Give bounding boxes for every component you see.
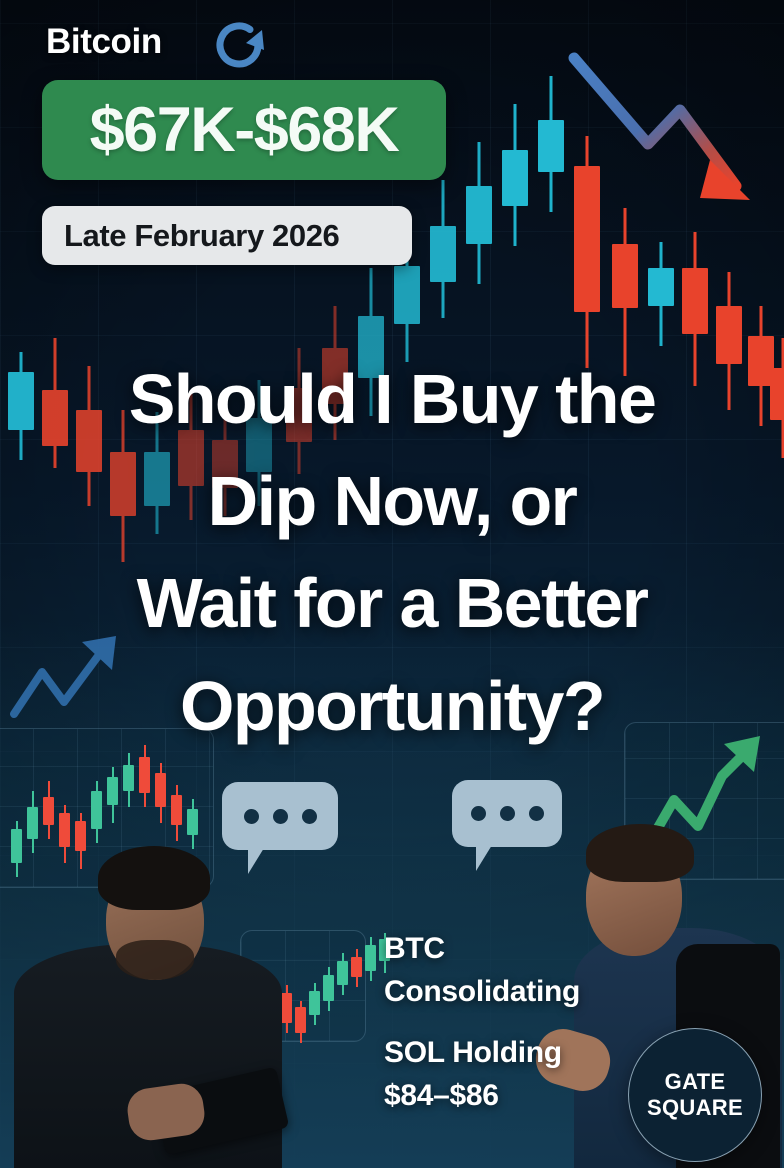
date-chip: Late February 2026: [42, 206, 412, 265]
chart-widget-left-candle-9: [155, 763, 166, 823]
caption-sol-line2: $84–$86: [384, 1075, 562, 1118]
chat-bubble-right[interactable]: [452, 780, 562, 870]
page-title-line-4: Opportunity?: [26, 655, 758, 757]
caption-btc-line1: BTC: [384, 928, 580, 971]
chat-bubble-left[interactable]: [222, 782, 338, 874]
chart-widget-center-candle-8: [365, 937, 376, 981]
candle-13: [466, 142, 492, 284]
trader-with-tablet: [10, 836, 310, 1168]
chat-bubble-tail: [248, 848, 264, 874]
chart-widget-left-candle-5: [91, 781, 102, 843]
page-title-line-3: Wait for a Better: [26, 552, 758, 654]
typing-dot: [273, 809, 288, 824]
gate-square-badge[interactable]: GATE SQUARE: [628, 1028, 762, 1162]
caption-sol-line1: SOL Holding: [384, 1032, 562, 1075]
social-card-root: Bitcoin $67K-$68K Late February 2026 Sho…: [0, 0, 784, 1168]
gate-badge-line2: SQUARE: [647, 1095, 743, 1121]
chart-widget-center-candle-4: [309, 983, 320, 1025]
asset-label: Bitcoin: [46, 22, 162, 62]
gate-badge-line1: GATE: [665, 1069, 726, 1095]
date-chip-text: Late February 2026: [64, 218, 339, 254]
chart-widget-left-candle-2: [43, 781, 54, 839]
typing-dot: [244, 809, 259, 824]
chart-widget-center-candle-7: [351, 949, 362, 987]
chat-bubble-body: [222, 782, 338, 850]
caption-btc-line2: Consolidating: [384, 971, 580, 1014]
page-title: Should I Buy theDip Now, orWait for a Be…: [0, 348, 784, 757]
price-range-text: $67K-$68K: [90, 94, 399, 166]
chart-widget-center-candle-5: [323, 967, 334, 1011]
page-title-line-2: Dip Now, or: [26, 450, 758, 552]
candle-18: [648, 242, 674, 346]
refresh-icon[interactable]: [210, 16, 276, 74]
decline-arrow-icon: [560, 48, 784, 238]
page-title-line-1: Should I Buy the: [26, 348, 758, 450]
chart-widget-left-candle-10: [171, 785, 182, 841]
chart-widget-center-candle-6: [337, 953, 348, 995]
caption-btc: BTC Consolidating: [384, 928, 580, 1013]
candle-12: [430, 180, 456, 318]
typing-dot: [529, 806, 544, 821]
price-range-badge: $67K-$68K: [42, 80, 446, 180]
chat-bubble-body: [452, 780, 562, 847]
candle-14: [502, 104, 528, 246]
chat-bubble-tail: [476, 845, 492, 871]
caption-sol: SOL Holding $84–$86: [384, 1032, 562, 1117]
chart-widget-left-candle-6: [107, 767, 118, 823]
typing-dot: [500, 806, 515, 821]
chart-widget-left-candle-7: [123, 753, 134, 807]
typing-dot: [471, 806, 486, 821]
typing-dot: [302, 809, 317, 824]
